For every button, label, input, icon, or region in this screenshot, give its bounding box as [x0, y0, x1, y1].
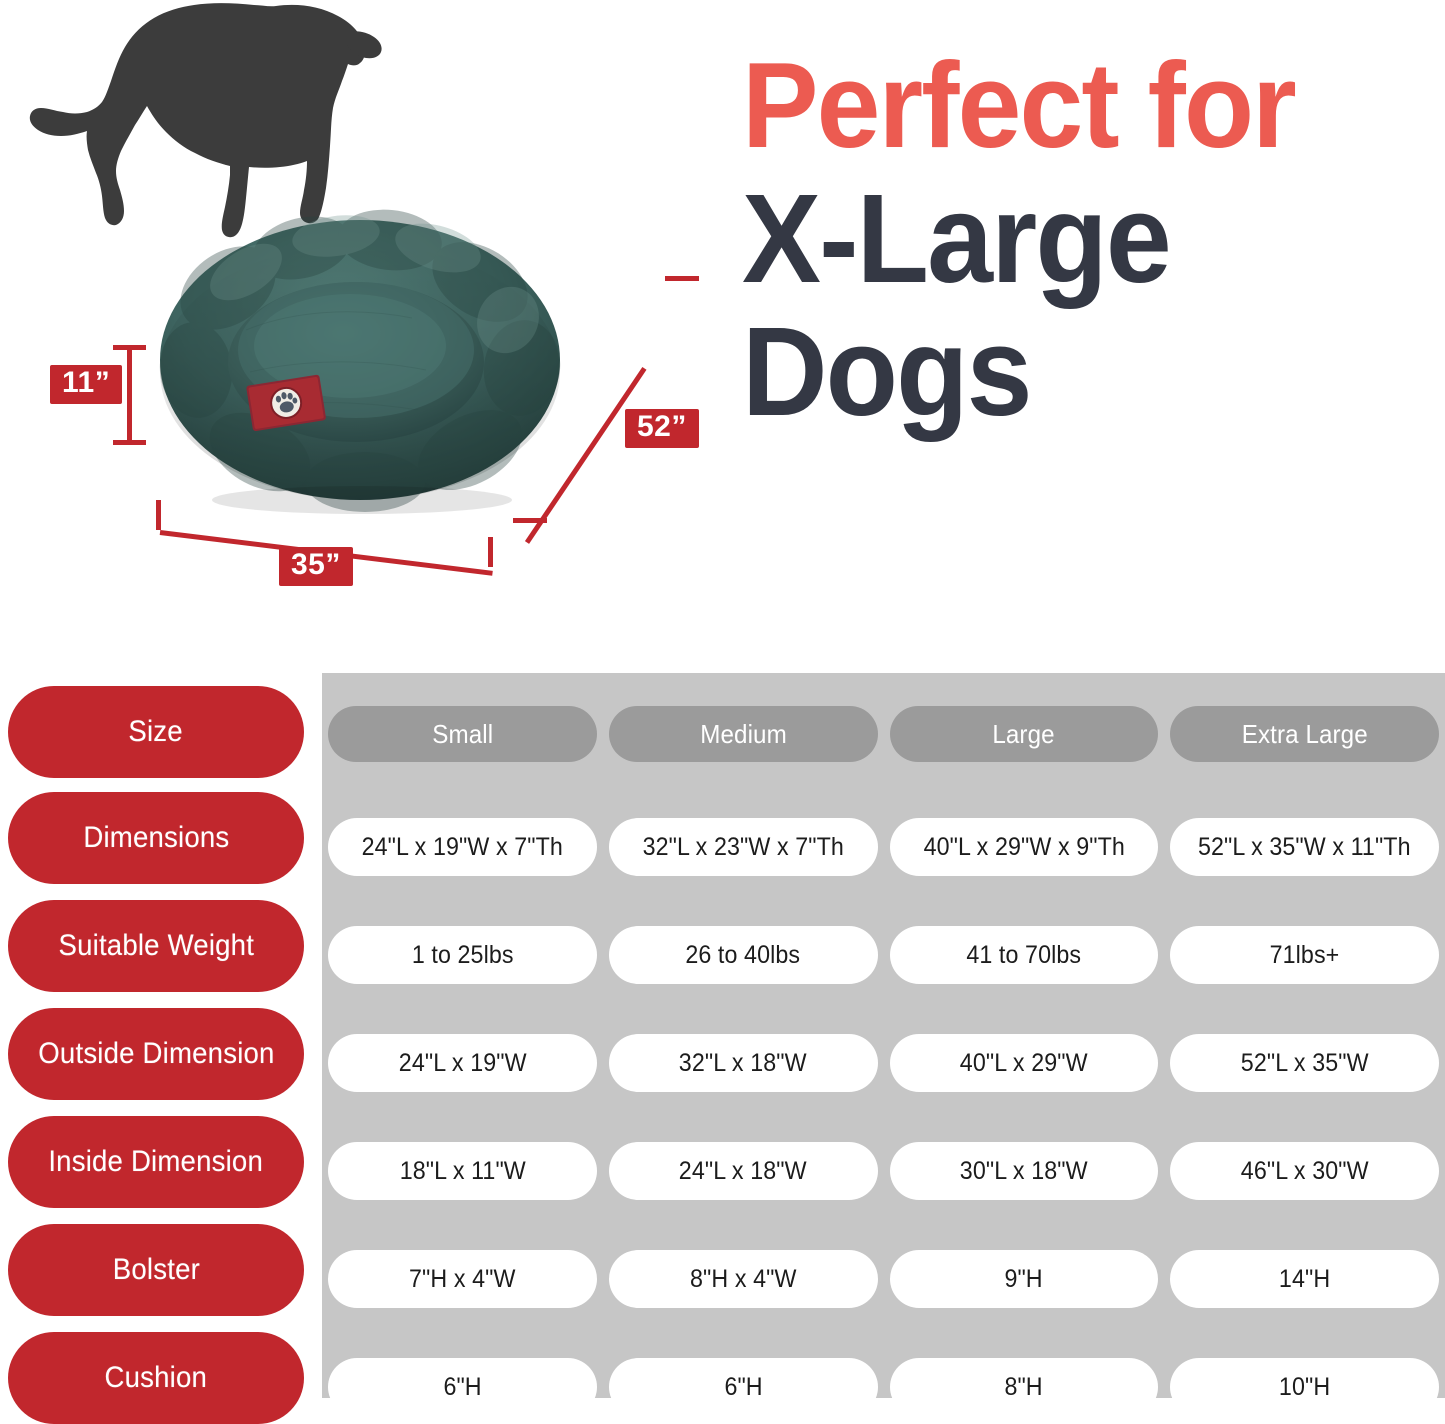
value-pill: 52"L x 35"W: [1170, 1034, 1439, 1092]
value-pill: 6"H: [328, 1358, 597, 1416]
value-text: 71lbs+: [1270, 941, 1340, 970]
table-row: 24"L x 19"W x 7"Th32"L x 23"W x 7"Th40"L…: [322, 818, 1445, 876]
value-pill: 41 to 70lbs: [890, 926, 1159, 984]
table-cell: 46"L x 30"W: [1164, 1142, 1445, 1200]
value-pill: 30"L x 18"W: [890, 1142, 1159, 1200]
row-label-text: Inside Dimension: [49, 1145, 264, 1179]
header-cell: Medium: [603, 706, 884, 762]
row-label-outside-dimension: Outside Dimension: [8, 1008, 304, 1100]
value-pill: 24"L x 19"W: [328, 1034, 597, 1092]
value-pill: 8"H x 4"W: [609, 1250, 878, 1308]
row-label-text: Dimensions: [83, 821, 229, 855]
length-measure-cap-top: [665, 276, 699, 281]
value-pill: 8"H: [890, 1358, 1159, 1416]
value-text: 40"L x 29"W x 9"Th: [923, 833, 1124, 862]
row-label-inside-dimension: Inside Dimension: [8, 1116, 304, 1208]
table-cell: 26 to 40lbs: [603, 926, 884, 984]
height-measure-line: [127, 345, 132, 445]
table-cell: 1 to 25lbs: [322, 926, 603, 984]
height-measure-cap-top: [113, 345, 146, 350]
value-pill: 7"H x 4"W: [328, 1250, 597, 1308]
row-label-text: Bolster: [112, 1253, 199, 1287]
table-row: 6"H6"H8"H10"H: [322, 1358, 1445, 1416]
value-pill: 24"L x 18"W: [609, 1142, 878, 1200]
value-pill: 1 to 25lbs: [328, 926, 597, 984]
value-text: 24"L x 19"W x 7"Th: [362, 833, 563, 862]
value-pill: 9"H: [890, 1250, 1159, 1308]
value-text: 52"L x 35"W: [1241, 1049, 1369, 1078]
value-text: 41 to 70lbs: [966, 941, 1081, 970]
headline-line-2: X-Large: [742, 178, 1400, 300]
table-cell: 71lbs+: [1164, 926, 1445, 984]
row-label-suitable-weight: Suitable Weight: [8, 900, 304, 992]
table-data-grid: SmallMediumLargeExtra Large24"L x 19"W x…: [322, 673, 1445, 1398]
column-header-text: Extra Large: [1242, 719, 1368, 750]
value-pill: 18"L x 11"W: [328, 1142, 597, 1200]
row-label-text: Suitable Weight: [58, 929, 254, 963]
height-dimension-label: 11”: [50, 365, 122, 404]
table-cell: 10"H: [1164, 1358, 1445, 1416]
table-cell: 24"L x 19"W x 7"Th: [322, 818, 603, 876]
width-dimension-label: 35”: [279, 547, 353, 586]
value-text: 30"L x 18"W: [960, 1157, 1088, 1186]
header-cell: Large: [884, 706, 1165, 762]
value-text: 40"L x 29"W: [960, 1049, 1088, 1078]
column-header-extra-large: Extra Large: [1170, 706, 1439, 762]
table-cell: 52"L x 35"W: [1164, 1034, 1445, 1092]
table-cell: 14"H: [1164, 1250, 1445, 1308]
product-image-dog-bed: [150, 200, 570, 520]
table-cell: 24"L x 19"W: [322, 1034, 603, 1092]
table-cell: 9"H: [884, 1250, 1165, 1308]
row-label-dimensions: Dimensions: [8, 792, 304, 884]
value-pill: 40"L x 29"W: [890, 1034, 1159, 1092]
value-pill: 26 to 40lbs: [609, 926, 878, 984]
table-row: 1 to 25lbs26 to 40lbs41 to 70lbs71lbs+: [322, 926, 1445, 984]
value-pill: 14"H: [1170, 1250, 1439, 1308]
row-label-size: Size: [8, 686, 304, 778]
length-measure-cap-bottom: [513, 518, 547, 523]
width-measure-cap-left: [156, 500, 161, 530]
value-pill: 71lbs+: [1170, 926, 1439, 984]
value-text: 18"L x 11"W: [399, 1157, 525, 1186]
value-text: 7"H x 4"W: [409, 1265, 515, 1294]
row-label-text: Cushion: [105, 1361, 208, 1395]
table-cell: 32"L x 18"W: [603, 1034, 884, 1092]
column-header-large: Large: [890, 706, 1159, 762]
row-label-text: Size: [129, 715, 183, 749]
headline-line-1: Perfect for: [742, 46, 1400, 164]
value-text: 26 to 40lbs: [686, 941, 801, 970]
row-label-text: Outside Dimension: [38, 1037, 274, 1071]
column-header-text: Small: [432, 719, 493, 750]
table-cell: 30"L x 18"W: [884, 1142, 1165, 1200]
table-cell: 8"H: [884, 1358, 1165, 1416]
value-text: 24"L x 18"W: [679, 1157, 807, 1186]
table-cell: 8"H x 4"W: [603, 1250, 884, 1308]
value-text: 6"H: [724, 1373, 762, 1402]
value-pill: 32"L x 23"W x 7"Th: [609, 818, 878, 876]
value-text: 46"L x 30"W: [1241, 1157, 1369, 1186]
table-cell: 18"L x 11"W: [322, 1142, 603, 1200]
width-measure-cap-right: [488, 537, 493, 567]
header-cell: Extra Large: [1164, 706, 1445, 762]
table-cell: 41 to 70lbs: [884, 926, 1165, 984]
value-text: 52"L x 35"W x 11"Th: [1198, 833, 1411, 862]
table-cell: 40"L x 29"W: [884, 1034, 1165, 1092]
table-cell: 6"H: [603, 1358, 884, 1416]
table-cell: 6"H: [322, 1358, 603, 1416]
value-text: 1 to 25lbs: [411, 941, 513, 970]
value-pill: 46"L x 30"W: [1170, 1142, 1439, 1200]
row-label-bolster: Bolster: [8, 1224, 304, 1316]
headline-line-3: Dogs: [742, 311, 1400, 433]
row-label-cushion: Cushion: [8, 1332, 304, 1424]
table-row: 7"H x 4"W8"H x 4"W9"H14"H: [322, 1250, 1445, 1308]
value-text: 24"L x 19"W: [398, 1049, 526, 1078]
table-cell: 32"L x 23"W x 7"Th: [603, 818, 884, 876]
value-text: 9"H: [1005, 1265, 1043, 1294]
table-header-row: SmallMediumLargeExtra Large: [322, 706, 1445, 762]
value-text: 8"H x 4"W: [690, 1265, 796, 1294]
hero-section: 11” 35” 52” Perfect for X-Large Dogs: [0, 0, 1445, 660]
column-header-small: Small: [328, 706, 597, 762]
value-text: 32"L x 23"W x 7"Th: [642, 833, 843, 862]
table-row: 18"L x 11"W24"L x 18"W30"L x 18"W46"L x …: [322, 1142, 1445, 1200]
specification-table: SizeDimensionsSuitable WeightOutside Dim…: [0, 660, 1445, 1410]
value-text: 10"H: [1279, 1373, 1330, 1402]
row-label-column: SizeDimensionsSuitable WeightOutside Dim…: [8, 660, 304, 1410]
header-cell: Small: [322, 706, 603, 762]
hero-headline: Perfect for X-Large Dogs: [742, 46, 1442, 433]
table-cell: 40"L x 29"W x 9"Th: [884, 818, 1165, 876]
table-cell: 52"L x 35"W x 11"Th: [1164, 818, 1445, 876]
value-text: 6"H: [443, 1373, 481, 1402]
value-text: 14"H: [1279, 1265, 1330, 1294]
value-pill: 52"L x 35"W x 11"Th: [1170, 818, 1439, 876]
height-measure-cap-bottom: [113, 440, 146, 445]
table-row: 24"L x 19"W32"L x 18"W40"L x 29"W52"L x …: [322, 1034, 1445, 1092]
column-header-text: Medium: [700, 719, 787, 750]
value-pill: 32"L x 18"W: [609, 1034, 878, 1092]
table-cell: 24"L x 18"W: [603, 1142, 884, 1200]
value-text: 8"H: [1005, 1373, 1043, 1402]
value-pill: 40"L x 29"W x 9"Th: [890, 818, 1159, 876]
value-pill: 6"H: [609, 1358, 878, 1416]
value-text: 32"L x 18"W: [679, 1049, 807, 1078]
value-pill: 24"L x 19"W x 7"Th: [328, 818, 597, 876]
length-dimension-label: 52”: [625, 409, 699, 448]
column-header-text: Large: [993, 719, 1055, 750]
table-cell: 7"H x 4"W: [322, 1250, 603, 1308]
value-pill: 10"H: [1170, 1358, 1439, 1416]
column-header-medium: Medium: [609, 706, 878, 762]
